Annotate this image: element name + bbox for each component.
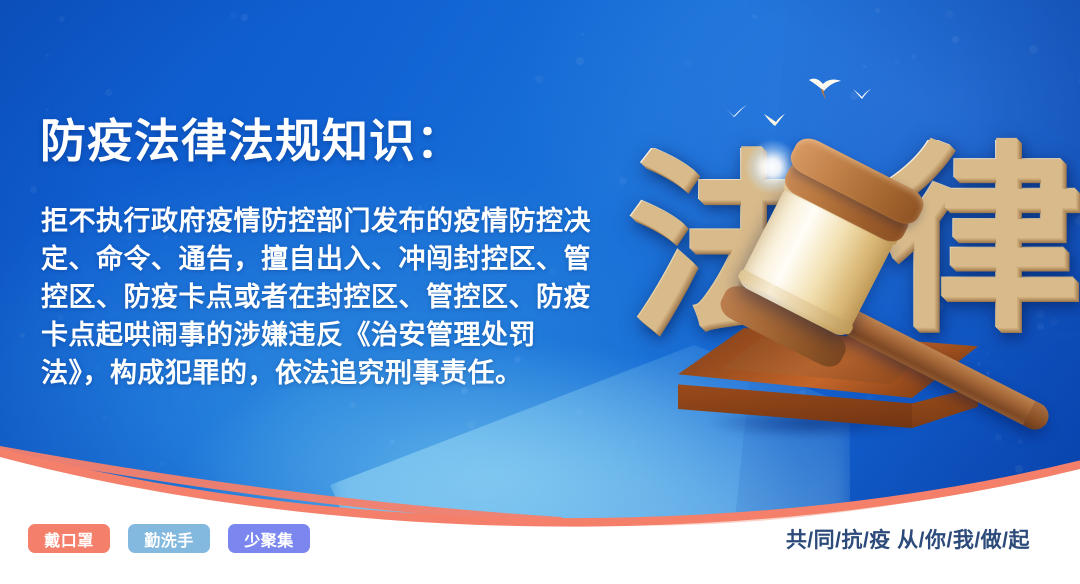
prevention-tag-list: 戴口罩 勤洗手 少聚集 — [28, 524, 310, 553]
tag-wash-hands[interactable]: 勤洗手 — [128, 524, 210, 553]
tag-avoid-gathering[interactable]: 少聚集 — [228, 524, 310, 553]
bottom-slogan: 共/同/抗/疫 从/你/我/做/起 — [786, 524, 1030, 554]
bottom-curve-decoration — [0, 409, 1080, 584]
flying-bird-icon-3 — [806, 76, 844, 102]
judge-gavel-icon — [640, 100, 1020, 460]
tag-wear-mask[interactable]: 戴口罩 — [28, 524, 110, 553]
page-title: 防疫法律法规知识： — [40, 118, 463, 164]
body-paragraph: 拒不执行政府疫情防控部门发布的疫情防控决定、命令、通告，擅自出入、冲闯封控区、管… — [41, 202, 601, 392]
poster-canvas: 法 律 防疫法律法规知识： 拒不执行政府 — [0, 0, 1080, 584]
flying-bird-icon-1 — [722, 104, 748, 118]
flying-bird-icon-4 — [852, 88, 872, 100]
flying-bird-icon-2 — [762, 112, 786, 128]
